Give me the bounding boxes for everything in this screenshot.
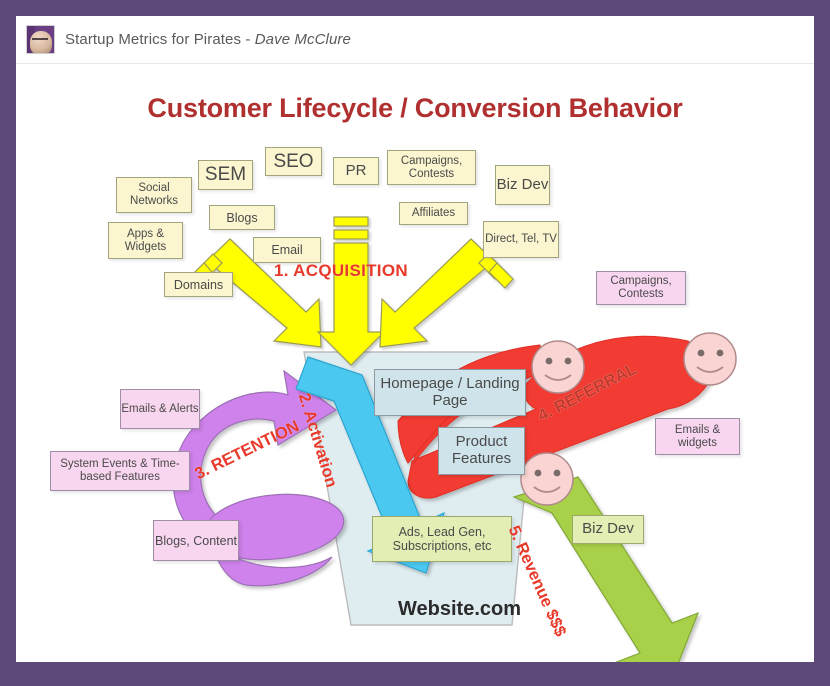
referral-driver-box: Campaigns, Contests xyxy=(596,271,686,305)
activation-target-box: Product Features xyxy=(438,427,525,475)
retention-driver-box: System Events & Time-based Features xyxy=(50,451,190,491)
smiley-face-icon xyxy=(532,341,584,393)
avatar-glasses xyxy=(32,38,48,44)
acquisition-channel-box: PR xyxy=(333,157,379,185)
acquisition-channel-box: Affiliates xyxy=(399,202,468,225)
slide-card: Startup Metrics for Pirates - Dave McClu… xyxy=(16,16,814,662)
diagram-canvas: Customer Lifecycle / Conversion Behavior xyxy=(16,65,814,662)
referral-driver-box: Emails & widgets xyxy=(655,418,740,455)
acquisition-channel-box: SEO xyxy=(265,147,322,176)
slide-title-text: Startup Metrics for Pirates xyxy=(65,31,241,48)
acquisition-channel-box: Apps & Widgets xyxy=(108,222,183,259)
funnel-label: Website.com xyxy=(398,598,521,621)
acquisition-channel-box: Biz Dev xyxy=(495,165,550,205)
acquisition-channel-box: Blogs xyxy=(209,205,275,230)
avatar xyxy=(26,25,55,54)
acquisition-channel-box: Direct, Tel, TV xyxy=(483,221,559,258)
acquisition-channel-box: SEM xyxy=(198,160,253,190)
retention-driver-box: Emails & Alerts xyxy=(120,389,200,429)
acquisition-channel-box: Campaigns, Contests xyxy=(387,150,476,185)
acquisition-channel-box: Domains xyxy=(164,272,233,297)
slide-header: Startup Metrics for Pirates - Dave McClu… xyxy=(16,16,814,64)
title-separator: - xyxy=(241,31,255,48)
revenue-source-box: Ads, Lead Gen, Subscriptions, etc xyxy=(372,516,512,562)
retention-driver-box: Blogs, Content xyxy=(153,520,239,561)
smiley-face-icon xyxy=(684,333,736,385)
acquisition-channel-box: Email xyxy=(253,237,321,263)
slide-title: Startup Metrics for Pirates - Dave McClu… xyxy=(65,31,351,48)
slide-author: Dave McClure xyxy=(255,31,351,48)
smiley-face-icon xyxy=(521,453,573,505)
activation-target-box: Homepage / Landing Page xyxy=(374,369,526,416)
window-frame: Startup Metrics for Pirates - Dave McClu… xyxy=(0,0,830,686)
revenue-source-box: Biz Dev xyxy=(572,515,644,544)
stage-label-acquisition: 1. ACQUISITION xyxy=(274,261,408,281)
acquisition-channel-box: Social Networks xyxy=(116,177,192,213)
